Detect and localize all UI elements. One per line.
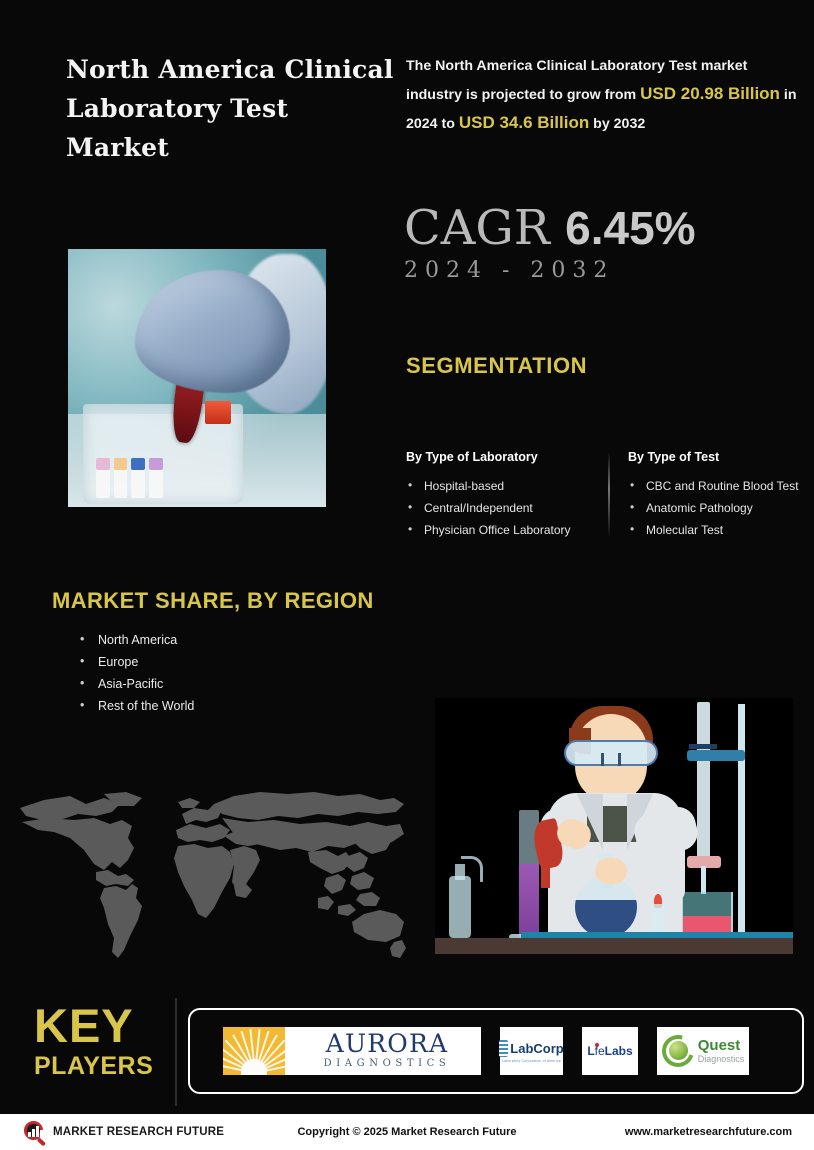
market-share-title: MARKET SHARE, BY REGION	[52, 588, 374, 614]
intro-suffix: by 2032	[589, 116, 645, 132]
region-item: North America	[80, 629, 194, 651]
key-players-label: KEY PLAYERS	[34, 1002, 174, 1082]
logo-aurora-diagnostics[interactable]: AURORA DIAGNOSTICS	[223, 1027, 481, 1075]
logo-lifelabs-a: L	[587, 1044, 594, 1058]
cagr-label: CAGR	[404, 200, 550, 256]
photo-vial	[149, 468, 163, 498]
lab-scientist-illustration	[435, 698, 793, 954]
segmentation-divider	[608, 452, 610, 538]
logo-labcorp-sub: Laboratory Corporation of America	[499, 1059, 563, 1063]
key-players-separator	[175, 998, 177, 1106]
logo-lifelabs-name: LfeLabs	[587, 1044, 632, 1058]
labcorp-helix-icon	[499, 1040, 508, 1057]
cagr-period: 2024 - 2032	[404, 258, 696, 283]
footer-brand: MARKET RESEARCH FUTURE	[0, 1121, 290, 1143]
cagr-line: CAGR 6.45%	[404, 200, 696, 256]
segmentation-title: SEGMENTATION	[406, 353, 587, 379]
market-share-list: North America Europe Asia-Pacific Rest o…	[80, 629, 194, 717]
segmentation-item: CBC and Routine Blood Test	[628, 475, 813, 497]
illustration-stand-rod	[738, 704, 745, 938]
illustration-clamp-dark	[689, 744, 717, 749]
segmentation-item: Hospital-based	[406, 475, 601, 497]
sunburst-icon	[223, 1027, 285, 1075]
market-research-future-logo-icon	[24, 1121, 46, 1143]
illustration-forearm-right	[663, 830, 685, 902]
segmentation-item: Anatomic Pathology	[628, 497, 813, 519]
key-players-line2: PLAYERS	[34, 1050, 174, 1082]
quest-swoosh-icon	[662, 1035, 694, 1067]
region-item: Europe	[80, 651, 194, 673]
value-2032: USD 34.6 Billion	[459, 113, 589, 132]
segmentation-item: Physician Office Laboratory	[406, 519, 601, 541]
cagr-value: 6.45%	[565, 202, 695, 254]
blood-sample-photo	[68, 249, 326, 507]
illustration-stopcock-stem	[701, 866, 706, 894]
photo-vial	[131, 468, 145, 498]
region-item: Asia-Pacific	[80, 673, 194, 695]
segmentation-column-test: By Type of Test CBC and Routine Blood Te…	[628, 450, 813, 541]
logo-quest-name: Quest	[698, 1038, 745, 1054]
value-2024: USD 20.98 Billion	[640, 84, 780, 103]
footer-url[interactable]: www.marketresearchfuture.com	[524, 1126, 814, 1138]
segmentation-column-laboratory: By Type of Laboratory Hospital-based Cen…	[406, 450, 601, 541]
illustration-goggle-bridge	[601, 753, 621, 766]
logo-labcorp[interactable]: LabCorp Laboratory Corporation of Americ…	[500, 1027, 563, 1075]
page-title: North America Clinical Laboratory Test M…	[66, 50, 396, 167]
logo-quest-sub: Diagnostics	[698, 1054, 745, 1065]
region-item: Rest of the World	[80, 695, 194, 717]
intro-paragraph: The North America Clinical Laboratory Te…	[406, 52, 804, 138]
world-map	[8, 790, 408, 975]
photo-red-cap-tube	[205, 401, 231, 424]
infographic-page: North America Clinical Laboratory Test M…	[0, 0, 814, 1150]
logo-aurora-sub: DIAGNOSTICS	[293, 1057, 481, 1071]
logo-quest-diagnostics[interactable]: Quest Diagnostics	[657, 1027, 749, 1075]
footer: MARKET RESEARCH FUTURE Copyright © 2025 …	[0, 1114, 814, 1150]
segmentation-item: Molecular Test	[628, 519, 813, 541]
illustration-flask	[575, 876, 637, 938]
footer-copyright: Copyright © 2025 Market Research Future	[290, 1126, 524, 1138]
segmentation-heading: By Type of Test	[628, 450, 813, 464]
illustration-burette	[697, 702, 710, 862]
footer-brand-name: MARKET RESEARCH FUTURE	[53, 1126, 224, 1138]
key-players-line1: KEY	[34, 1002, 174, 1050]
logo-lifelabs[interactable]: LfeLabs	[582, 1027, 638, 1075]
logo-lifelabs-c: Labs	[605, 1044, 633, 1058]
illustration-clamp	[687, 750, 745, 761]
illustration-bench	[435, 938, 793, 954]
logo-aurora-name: AURORA	[293, 1031, 481, 1057]
illustration-hand-right	[595, 858, 627, 884]
logo-labcorp-name: LabCorp	[510, 1042, 563, 1055]
photo-vial	[96, 468, 110, 498]
lifelabs-dot-icon	[595, 1043, 599, 1047]
key-players-logo-row: AURORA DIAGNOSTICS LabCorp Laboratory Co…	[188, 1008, 804, 1094]
segmentation-heading: By Type of Laboratory	[406, 450, 601, 464]
cagr-block: CAGR 6.45% 2024 - 2032	[404, 200, 696, 283]
segmentation-item: Central/Independent	[406, 497, 601, 519]
photo-vial	[114, 468, 128, 498]
illustration-wash-bottle	[449, 876, 471, 938]
